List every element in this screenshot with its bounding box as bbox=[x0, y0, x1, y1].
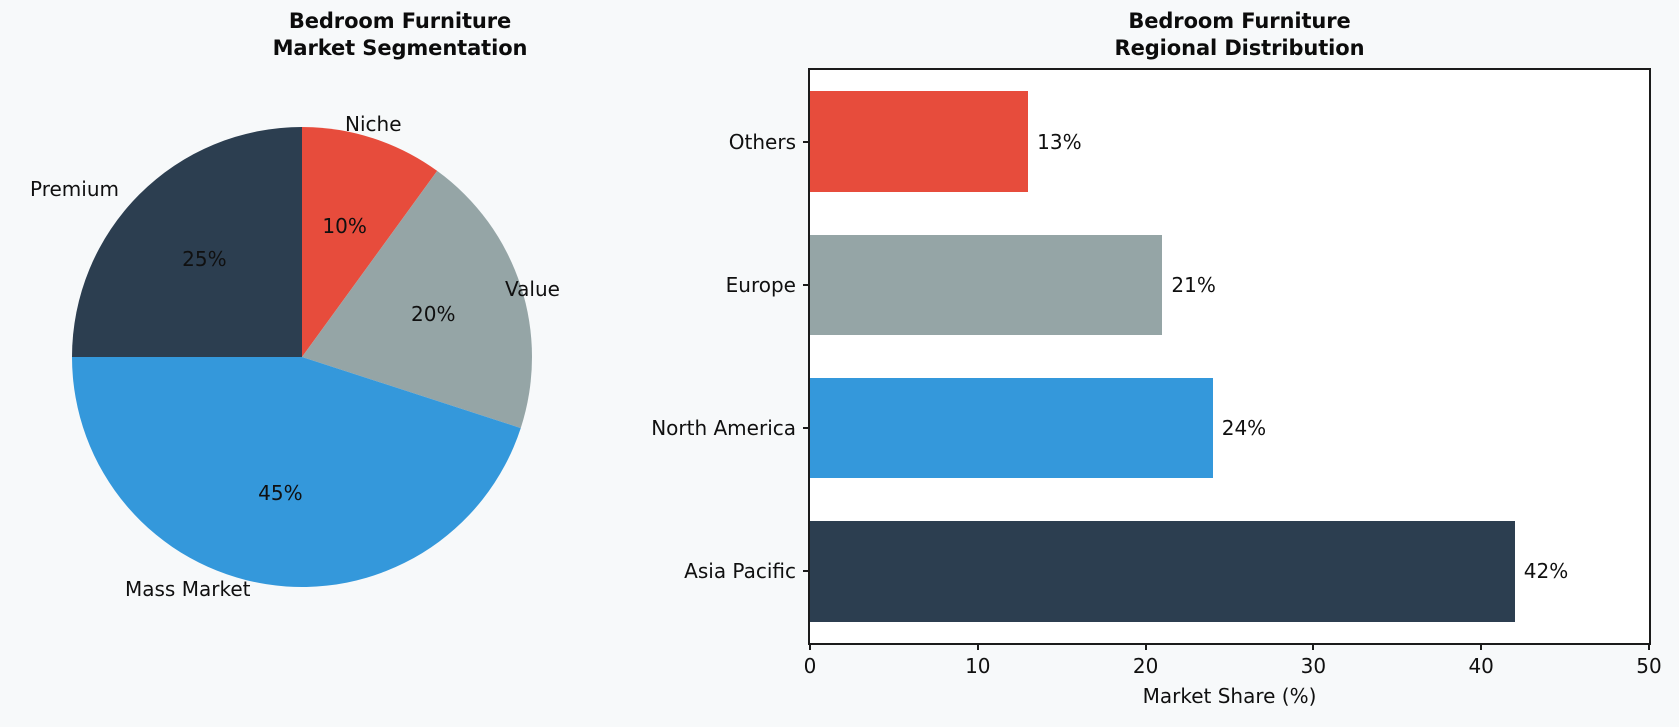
pie-slice-value: 45% bbox=[258, 481, 302, 505]
pie-slice-label: Value bbox=[505, 277, 560, 301]
bar bbox=[810, 521, 1515, 621]
pie-slice-value: 25% bbox=[182, 247, 226, 271]
y-axis-tick-label: North America bbox=[651, 416, 796, 440]
x-axis-tick-mark bbox=[809, 643, 811, 650]
y-axis-tick-label: Europe bbox=[726, 273, 796, 297]
bars-layer: 13%Others21%Europe24%North America42%Asi… bbox=[810, 70, 1649, 643]
pie-svg bbox=[72, 127, 532, 587]
bar-value-label: 24% bbox=[1213, 416, 1266, 440]
y-axis-tick-mark bbox=[803, 284, 810, 286]
x-axis-tick-mark bbox=[1312, 643, 1314, 650]
y-axis-tick-mark bbox=[803, 141, 810, 143]
bar-row: 24%North America bbox=[810, 378, 1213, 478]
x-axis-tick-label: 0 bbox=[804, 654, 817, 678]
pie-chart-title: Bedroom Furniture Market Segmentation bbox=[0, 8, 800, 62]
y-axis-tick-label: Asia Pacific bbox=[684, 559, 796, 583]
pie-slice-label: Mass Market bbox=[125, 577, 250, 601]
bar-row: 21%Europe bbox=[810, 235, 1162, 335]
x-axis-tick-label: 30 bbox=[1301, 654, 1326, 678]
pie-slice-label: Premium bbox=[30, 177, 119, 201]
bar bbox=[810, 378, 1213, 478]
x-axis-tick-mark bbox=[1145, 643, 1147, 650]
bar-value-label: 13% bbox=[1028, 130, 1081, 154]
pie-slice bbox=[72, 127, 302, 357]
pie-slice-value: 20% bbox=[411, 302, 455, 326]
x-axis-tick-mark bbox=[1480, 643, 1482, 650]
bar-chart-title: Bedroom Furniture Regional Distribution bbox=[800, 8, 1679, 62]
bar-chart-panel: Bedroom Furniture Regional Distribution … bbox=[800, 0, 1679, 727]
pie-slice-label: Niche bbox=[345, 112, 402, 136]
x-axis-tick-mark bbox=[1648, 643, 1650, 650]
bar-value-label: 21% bbox=[1162, 273, 1215, 297]
x-axis-tick-label: 10 bbox=[965, 654, 990, 678]
bar-row: 13%Others bbox=[810, 91, 1028, 191]
x-axis-title: Market Share (%) bbox=[1143, 684, 1317, 708]
x-axis-tick-label: 20 bbox=[1133, 654, 1158, 678]
bar-chart-plot-area: 13%Others21%Europe24%North America42%Asi… bbox=[808, 68, 1651, 645]
bar-value-label: 42% bbox=[1515, 559, 1568, 583]
x-axis-tick-mark bbox=[977, 643, 979, 650]
bar-row: 42%Asia Pacific bbox=[810, 521, 1515, 621]
bar bbox=[810, 235, 1162, 335]
x-axis-tick-label: 50 bbox=[1636, 654, 1661, 678]
bar bbox=[810, 91, 1028, 191]
y-axis-tick-mark bbox=[803, 427, 810, 429]
x-axis-tick-label: 40 bbox=[1468, 654, 1493, 678]
pie-chart-plot: 10%Niche20%Value45%Mass Market25%Premium bbox=[72, 127, 532, 587]
pie-slice-value: 10% bbox=[322, 214, 366, 238]
y-axis-tick-mark bbox=[803, 570, 810, 572]
y-axis-tick-label: Others bbox=[729, 130, 796, 154]
pie-chart-panel: Bedroom Furniture Market Segmentation 10… bbox=[0, 0, 800, 727]
